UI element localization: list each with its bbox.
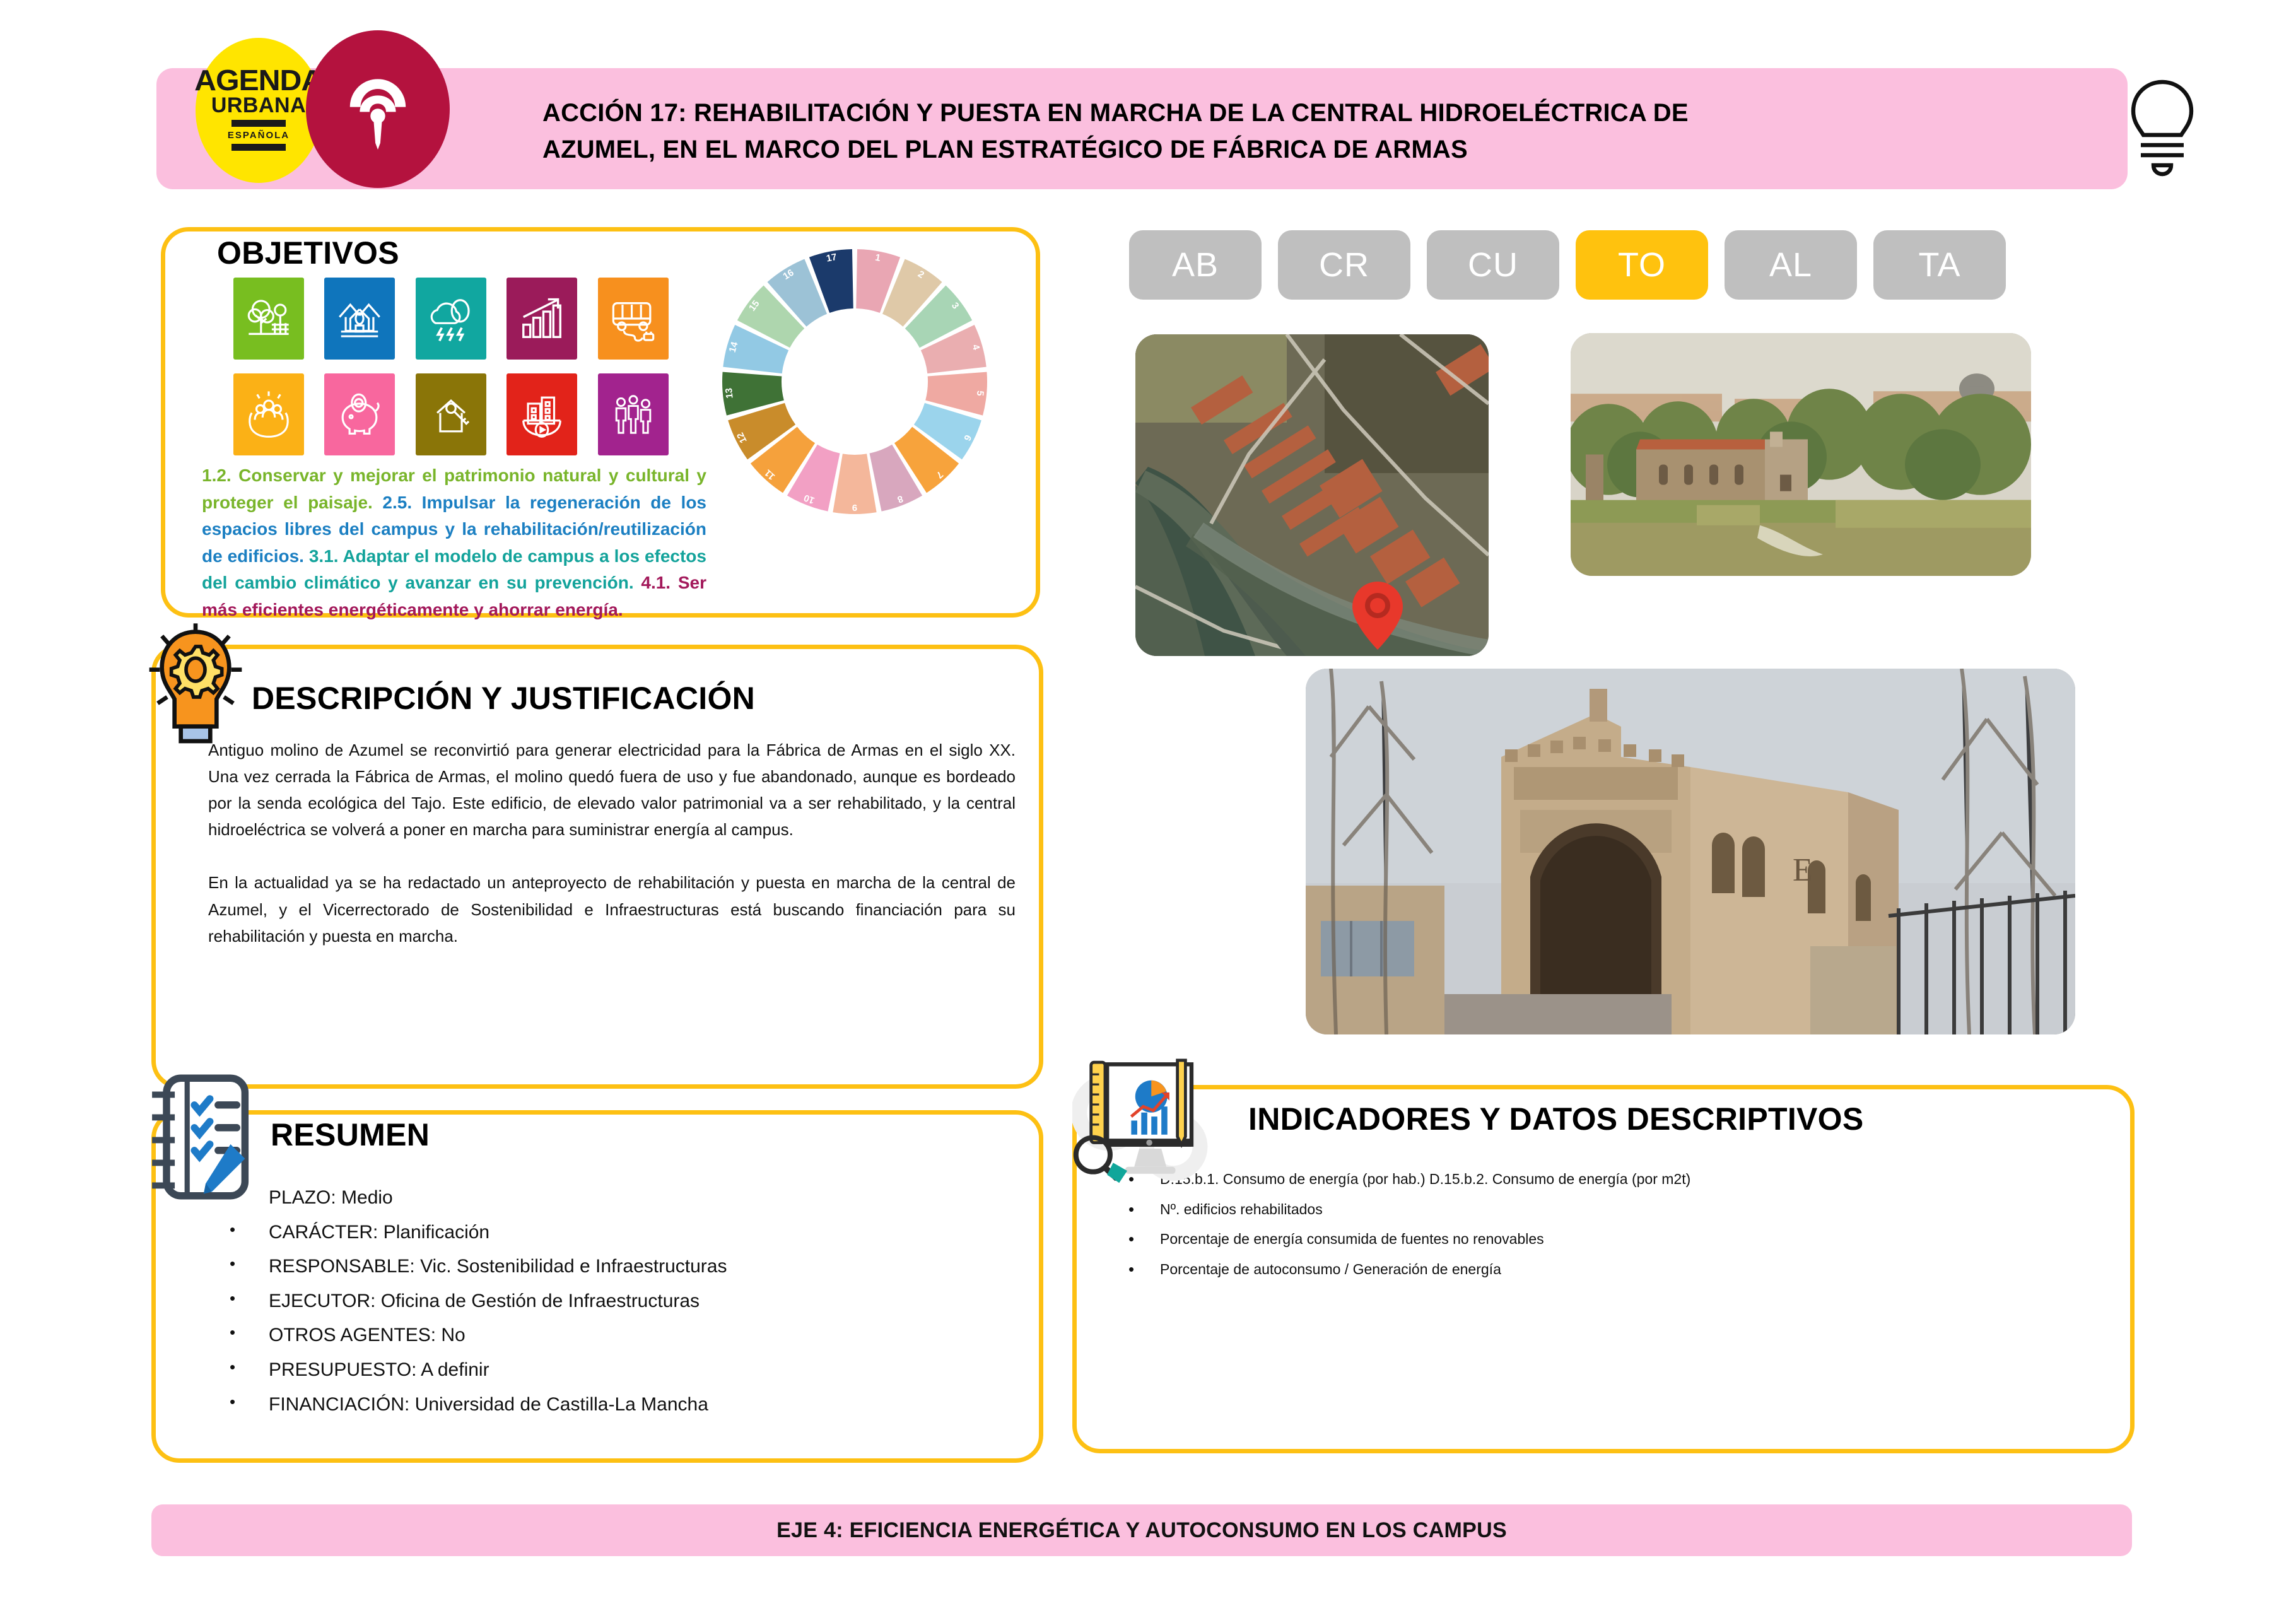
- lightbulb-icon: [2124, 77, 2200, 178]
- indicadores-heading: INDICADORES Y DATOS DESCRIPTIVOS: [1239, 1101, 1873, 1137]
- sdg-number-5: 5: [975, 390, 986, 396]
- campus-tab-ta[interactable]: TA: [1873, 230, 2006, 300]
- objetivos-icon-grid: [233, 278, 675, 455]
- logo-bar-bottom: [231, 144, 286, 151]
- logo-line-agenda: AGENDA: [194, 67, 322, 95]
- dashboard-chart-icon: [1072, 1050, 1214, 1186]
- logo-line-urbana: URBANA: [211, 95, 306, 117]
- list-item: Porcentaje de energía consumida de fuent…: [1120, 1228, 1690, 1250]
- objetivos-heading: OBJETIVOS: [208, 235, 408, 271]
- campus-tab-cr[interactable]: CR: [1278, 230, 1410, 300]
- electric-bus-icon: [598, 278, 669, 360]
- campus-tab-al[interactable]: AL: [1725, 230, 1857, 300]
- objetivos-text: 1.2. Conservar y mejorar el patrimonio n…: [202, 462, 706, 623]
- notebook-checklist-icon: [144, 1069, 257, 1205]
- logo-line-espanola: ESPAÑOLA: [228, 130, 290, 141]
- list-item: Porcentaje de autoconsumo / Generación d…: [1120, 1258, 1690, 1280]
- svg-text:E: E: [1793, 852, 1813, 888]
- campus-tab-ab[interactable]: AB: [1129, 230, 1262, 300]
- tree-park-icon: [233, 278, 304, 360]
- sdg-number-9: 9: [852, 502, 857, 513]
- lightbulb-gear-icon: [142, 621, 249, 747]
- campus-tab-bar[interactable]: AB CR CU TO AL TA: [1129, 230, 2006, 300]
- title-line-2: AZUMEL, EN EL MARCO DEL PLAN ESTRATÉGICO…: [542, 131, 2069, 168]
- sdg-wheel-icon: 1234567891011121314151617: [716, 243, 993, 520]
- page-title: ACCIÓN 17: REHABILITACIÓN Y PUESTA EN MA…: [542, 81, 2069, 182]
- beacon-icon: [306, 30, 450, 188]
- descripcion-body: Antiguo molino de Azumel se reconvirtió …: [208, 737, 1016, 976]
- sdg-number-17: 17: [826, 252, 838, 264]
- cloud-storm-icon: [416, 278, 486, 360]
- agenda-urbana-logo: AGENDA URBANA ESPAÑOLA: [196, 38, 322, 183]
- house-mountains-icon: [324, 278, 395, 360]
- list-item: PRESUPUESTO: A definir: [221, 1357, 727, 1384]
- list-item: PLAZO: Medio: [221, 1185, 727, 1212]
- sdg-number-13: 13: [723, 387, 735, 399]
- list-item: RESPONSABLE: Vic. Sostenibilidad e Infra…: [221, 1253, 727, 1280]
- people-group-icon: [598, 373, 669, 455]
- bar-chart-arrow-icon: [507, 278, 577, 360]
- campus-tab-cu[interactable]: CU: [1427, 230, 1559, 300]
- resumen-list: PLAZO: Medio CARÁCTER: Planificación RES…: [221, 1185, 727, 1426]
- building-facade-photo: E: [1306, 669, 2075, 1034]
- hands-people-icon: [233, 373, 304, 455]
- footer-banner: EJE 4: EFICIENCIA ENERGÉTICA Y AUTOCONSU…: [151, 1504, 2132, 1556]
- city-play-icon: [507, 373, 577, 455]
- piggy-bank-icon: [324, 373, 395, 455]
- descripcion-paragraph-2: En la actualidad ya se ha redactado un a…: [208, 869, 1016, 949]
- list-item: FINANCIACIÓN: Universidad de Castilla-La…: [221, 1392, 727, 1419]
- list-item: Nº. edificios rehabilitados: [1120, 1198, 1690, 1221]
- title-line-1: ACCIÓN 17: REHABILITACIÓN Y PUESTA EN MA…: [542, 95, 2069, 131]
- house-keys-icon: [416, 373, 486, 455]
- descripcion-heading: DESCRIPCIÓN Y JUSTIFICACIÓN: [243, 680, 764, 717]
- river-building-photo: [1571, 333, 2031, 576]
- indicadores-list: D.15.b.1. Consumo de energía (por hab.) …: [1120, 1168, 1690, 1288]
- resumen-heading: RESUMEN: [262, 1116, 438, 1153]
- list-item: EJECUTOR: Oficina de Gestión de Infraest…: [221, 1288, 727, 1315]
- logo-bar-top: [231, 120, 286, 127]
- list-item: CARÁCTER: Planificación: [221, 1219, 727, 1246]
- list-item: OTROS AGENTES: No: [221, 1322, 727, 1349]
- campus-tab-to[interactable]: TO: [1576, 230, 1708, 300]
- footer-text: EJE 4: EFICIENCIA ENERGÉTICA Y AUTOCONSU…: [776, 1518, 1507, 1543]
- aerial-map-photo: [1135, 334, 1489, 656]
- descripcion-paragraph-1: Antiguo molino de Azumel se reconvirtió …: [208, 737, 1016, 843]
